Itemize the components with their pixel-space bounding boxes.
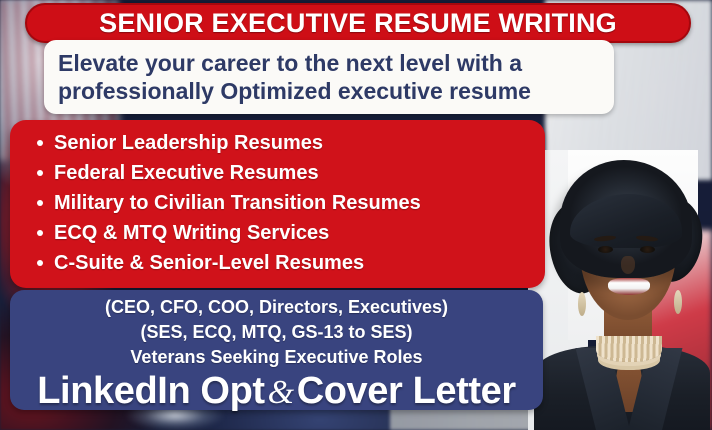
footer-offer-part-1: LinkedIn Opt — [37, 370, 264, 412]
list-item: Military to Civilian Transition Resumes — [54, 188, 545, 218]
portrait-earring-right — [674, 290, 682, 314]
portrait-smile — [608, 278, 650, 295]
list-item: Federal Executive Resumes — [54, 158, 545, 188]
headline-banner: SENIOR EXECUTIVE RESUME WRITING — [25, 3, 691, 43]
tagline-card: Elevate your career to the next level wi… — [44, 40, 614, 114]
presenter-portrait-photo — [528, 150, 712, 430]
footer-offer-part-2: Cover Letter — [297, 370, 516, 412]
promo-graphic: SENIOR EXECUTIVE RESUME WRITING Elevate … — [0, 0, 712, 430]
services-list: Senior Leadership Resumes Federal Execut… — [32, 128, 545, 278]
list-item: Senior Leadership Resumes — [54, 128, 545, 158]
audience-card: (CEO, CFO, COO, Directors, Executives) (… — [10, 290, 543, 410]
services-card: Senior Leadership Resumes Federal Execut… — [10, 120, 545, 288]
portrait-pearl-necklace — [596, 336, 662, 362]
headline-text: SENIOR EXECUTIVE RESUME WRITING — [99, 8, 617, 39]
ampersand-glyph: & — [265, 374, 297, 411]
portrait-eye-left — [598, 246, 613, 253]
portrait-earring-left — [578, 292, 586, 316]
audience-line-2: (SES, ECQ, MTQ, GS-13 to SES) — [10, 320, 543, 345]
list-item: ECQ & MTQ Writing Services — [54, 218, 545, 248]
portrait-nose — [621, 256, 635, 274]
portrait-eye-right — [640, 246, 655, 253]
footer-offer: LinkedIn Opt&Cover Letter — [10, 372, 543, 412]
tagline-line-2: professionally Optimized executive resum… — [58, 77, 600, 105]
tagline-line-1: Elevate your career to the next level wi… — [58, 49, 600, 77]
list-item: C-Suite & Senior-Level Resumes — [54, 248, 545, 278]
audience-line-1: (CEO, CFO, COO, Directors, Executives) — [10, 295, 543, 320]
audience-line-3: Veterans Seeking Executive Roles — [10, 345, 543, 370]
